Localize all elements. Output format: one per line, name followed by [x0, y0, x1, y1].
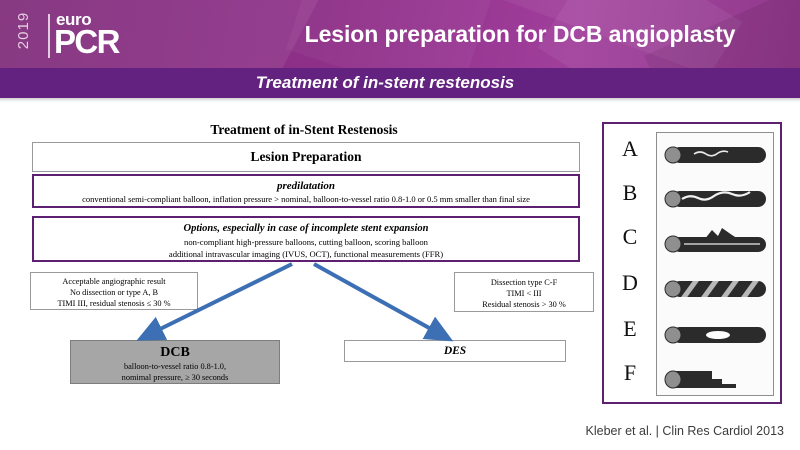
options-heading: Options, especially in case of incomplet…	[34, 222, 578, 236]
dissection-type-label-c: C	[604, 224, 656, 250]
logo-pcr-text: PCR	[54, 25, 119, 58]
left-criteria-line-2: No dissection or type A, B	[31, 287, 197, 298]
total-occlusion-figure	[660, 362, 772, 396]
left-criteria-line-1: Acceptable angiographic result	[31, 276, 197, 287]
right-criteria-line-1: Dissection type C-F	[455, 277, 593, 288]
predilatation-heading: predilatation	[34, 179, 578, 193]
dcb-line-2: nomimal pressure, ≥ 30 seconds	[71, 372, 279, 383]
extraluminal-cap-figure	[660, 226, 772, 260]
slide-canvas: 2019 euro PCR Lesion preparation for DCB…	[0, 0, 800, 450]
minor-radiolucency-figure	[660, 138, 772, 172]
options-box: Options, especially in case of incomplet…	[32, 216, 580, 262]
lesion-preparation-box: Lesion Preparation	[32, 142, 580, 172]
europcr-logo: 2019 euro PCR	[12, 6, 142, 64]
des-outcome-box: DES	[344, 340, 566, 362]
dissection-type-label-a: A	[604, 136, 656, 162]
dissection-type-label-b: B	[604, 180, 656, 206]
left-criteria-box: Acceptable angiographic result No dissec…	[30, 272, 198, 310]
subtitle-band: Treatment of in-stent restenosis	[0, 68, 800, 98]
treatment-flow-diagram: Treatment of in-Stent Restenosis Lesion …	[24, 112, 584, 402]
logo-divider	[48, 14, 50, 58]
filling-defect-figure	[660, 318, 772, 352]
header-shadow	[0, 98, 800, 102]
right-criteria-line-2: TIMI < III	[455, 288, 593, 299]
arrow-to-des	[314, 264, 440, 334]
options-line-2: additional intravascular imaging (IVUS, …	[34, 248, 578, 260]
dissection-type-label-e: E	[604, 316, 656, 342]
dissection-type-label-d: D	[604, 270, 656, 296]
diagram-title: Treatment of in-Stent Restenosis	[24, 122, 584, 138]
dcb-line-1: balloon-to-vessel ratio 0.8-1.0,	[71, 361, 279, 372]
page-subtitle: Treatment of in-stent restenosis	[0, 68, 770, 98]
page-title: Lesion preparation for DCB angioplasty	[250, 0, 790, 68]
dissection-classification-panel: A B C D E F	[602, 122, 782, 404]
citation-footer: Kleber et al. | Clin Res Cardiol 2013	[0, 424, 784, 446]
dcb-outcome-box: DCB balloon-to-vessel ratio 0.8-1.0, nom…	[70, 340, 280, 384]
options-line-1: non-compliant high-pressure balloons, cu…	[34, 236, 578, 248]
left-criteria-line-3: TIMI III, residual stenosis ≤ 30 %	[31, 298, 197, 309]
slide-header: 2019 euro PCR Lesion preparation for DCB…	[0, 0, 800, 68]
dissection-type-label-f: F	[604, 360, 656, 386]
predilatation-box: predilatation conventional semi-complian…	[32, 174, 580, 208]
dcb-title: DCB	[71, 344, 279, 361]
spiral-dissection-figure	[660, 272, 772, 306]
logo-year: 2019	[15, 12, 32, 49]
right-criteria-line-3: Residual stenosis > 30 %	[455, 299, 593, 310]
predilatation-detail: conventional semi-compliant balloon, inf…	[34, 193, 578, 205]
right-criteria-box: Dissection type C-F TIMI < III Residual …	[454, 272, 594, 312]
parallel-tract-figure	[660, 182, 772, 216]
